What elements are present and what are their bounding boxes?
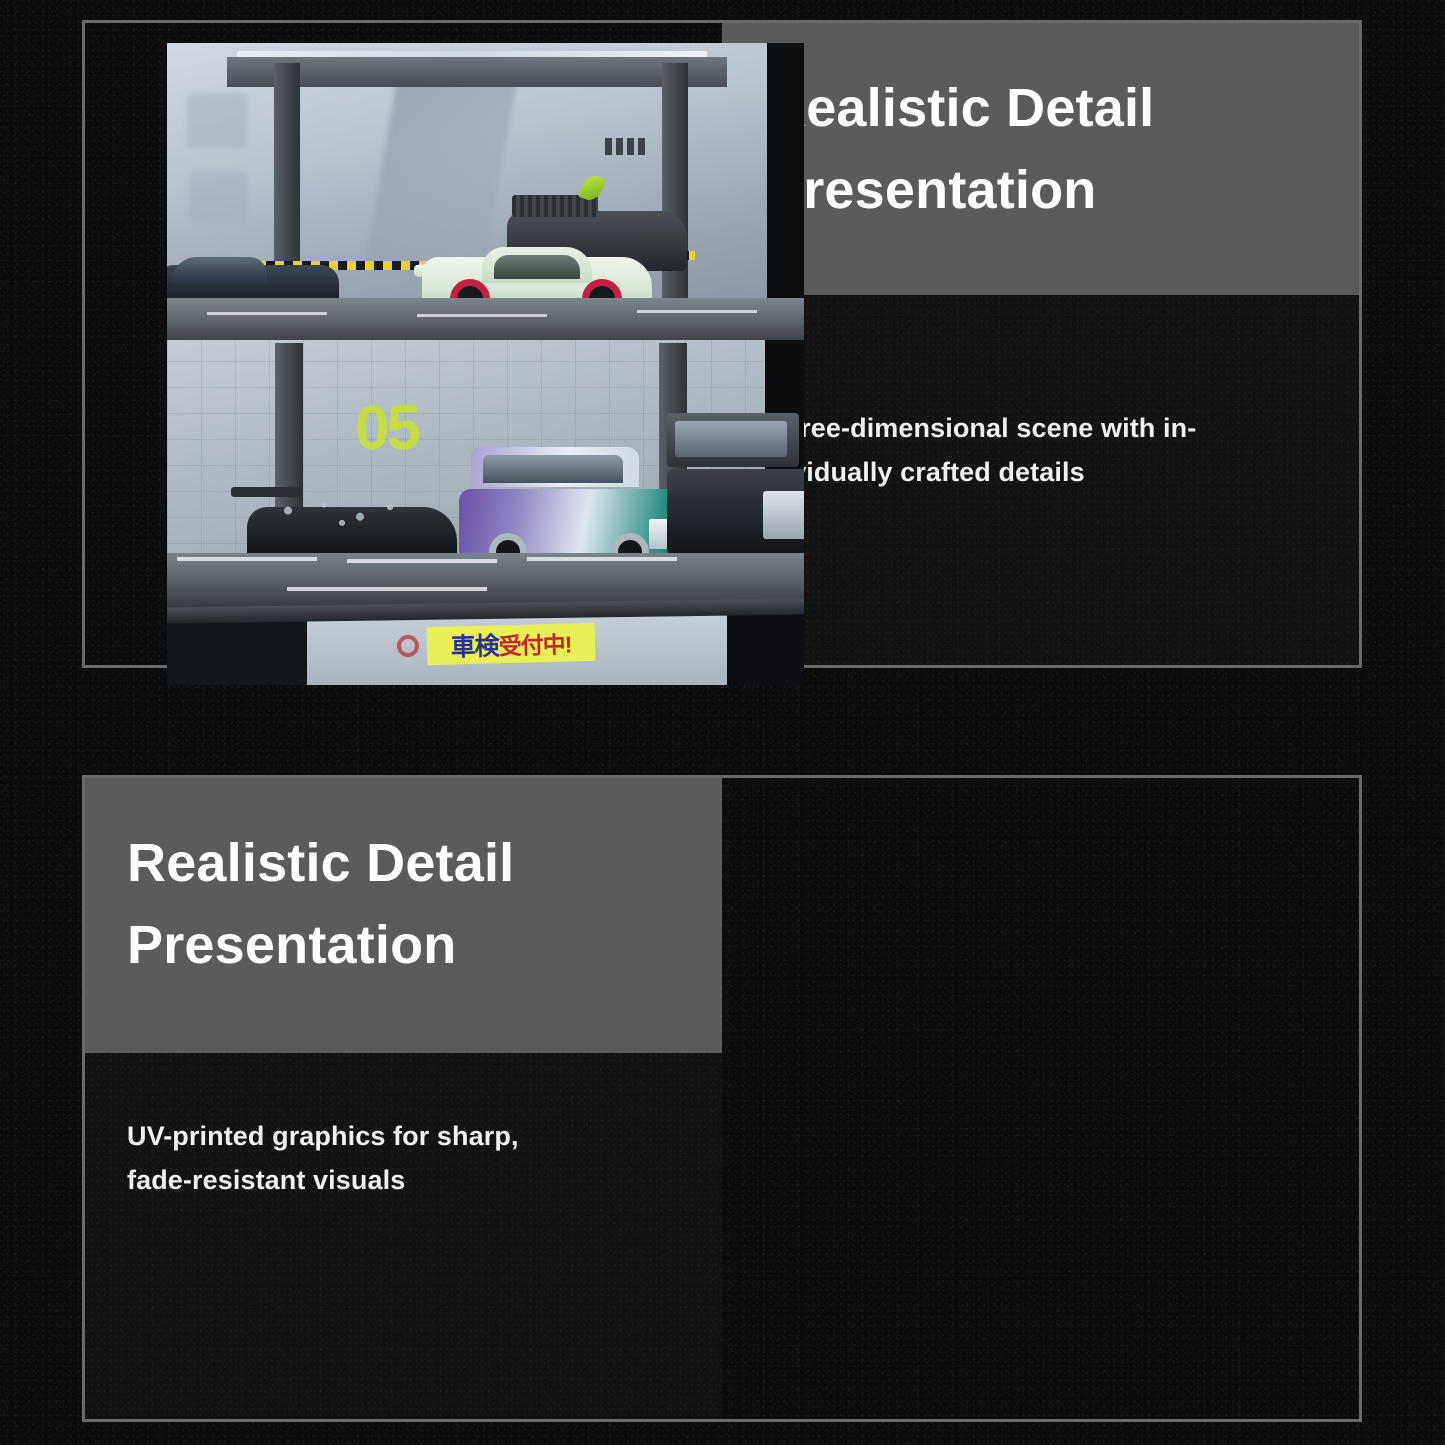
banner-text-blue: 車検: [450, 626, 499, 663]
car-windshield: [171, 257, 267, 283]
panel-bottom-body-line1: UV-printed graphics for sharp,: [127, 1115, 667, 1159]
wall-sign-glyph: [605, 138, 647, 155]
bay-line: [347, 559, 497, 563]
car-windows: [675, 421, 787, 457]
panel-top-body: Three-dimensional scene with in- dividua…: [767, 407, 1307, 494]
heading-block-bottom: Realistic Detail Presentation: [85, 778, 722, 1053]
panel-bottom-body: UV-printed graphics for sharp, fade-resi…: [127, 1115, 667, 1202]
ceiling-beam: [227, 57, 727, 87]
feature-panel-top: Realistic Detail Presentation Three-dime…: [82, 20, 1362, 668]
panel-top-heading-line2: Presentation: [767, 149, 1154, 231]
panel-top-body-line2: dividually crafted details: [767, 451, 1307, 495]
bay-line: [527, 557, 677, 561]
floor-marking: [207, 312, 327, 315]
product-feature-page: Realistic Detail Presentation Three-dime…: [0, 0, 1445, 1445]
body-block-bottom: UV-printed graphics for sharp, fade-resi…: [85, 1053, 722, 1419]
floor-marking: [417, 314, 547, 317]
body-block-top: Three-dimensional scene with in- dividua…: [722, 295, 1359, 665]
bay-line: [177, 557, 317, 561]
lower-deck-shadow-right: [727, 611, 804, 685]
car-rolls-royce-cullinan: [459, 441, 681, 571]
steel-column-upper-right: [662, 63, 688, 313]
panel-top-body-line1: Three-dimensional scene with in-: [767, 407, 1307, 451]
car-window: [494, 255, 580, 279]
car-g-wagon-suv: [667, 413, 804, 563]
panel-bottom-heading-line2: Presentation: [127, 904, 514, 986]
lane-marking: [287, 587, 487, 591]
car-hood-reflection: [267, 497, 417, 531]
japanese-inspection-banner: 車検 受付中!: [427, 623, 596, 665]
upper-deck-floor: [167, 298, 804, 340]
wall-panel-mark-2: [189, 171, 247, 223]
panel-bottom-heading: Realistic Detail Presentation: [127, 822, 514, 986]
feature-panel-bottom: Realistic Detail Presentation UV-printed…: [82, 775, 1362, 1422]
no-entry-icon: [397, 635, 419, 657]
heading-block-top: Realistic Detail Presentation: [722, 23, 1359, 295]
wall-number-05: 05: [355, 393, 418, 464]
rear-wing: [231, 487, 301, 497]
banner-text-red: 受付中!: [498, 625, 572, 661]
car-windows: [483, 455, 623, 483]
wall-panel-mark-1: [187, 93, 247, 148]
panel-bottom-body-line2: fade-resistant visuals: [127, 1159, 667, 1203]
panel-bottom-heading-line1: Realistic Detail: [127, 822, 514, 904]
upper-deck-shadow-right: [767, 43, 804, 311]
car-chrome-panel: [763, 491, 804, 539]
panel-top-heading-line1: Realistic Detail: [767, 67, 1154, 149]
floor-marking: [637, 310, 757, 313]
panel-top-heading: Realistic Detail Presentation: [767, 67, 1154, 231]
image-diecast-parking-garage-with-cars: 05: [167, 43, 804, 685]
